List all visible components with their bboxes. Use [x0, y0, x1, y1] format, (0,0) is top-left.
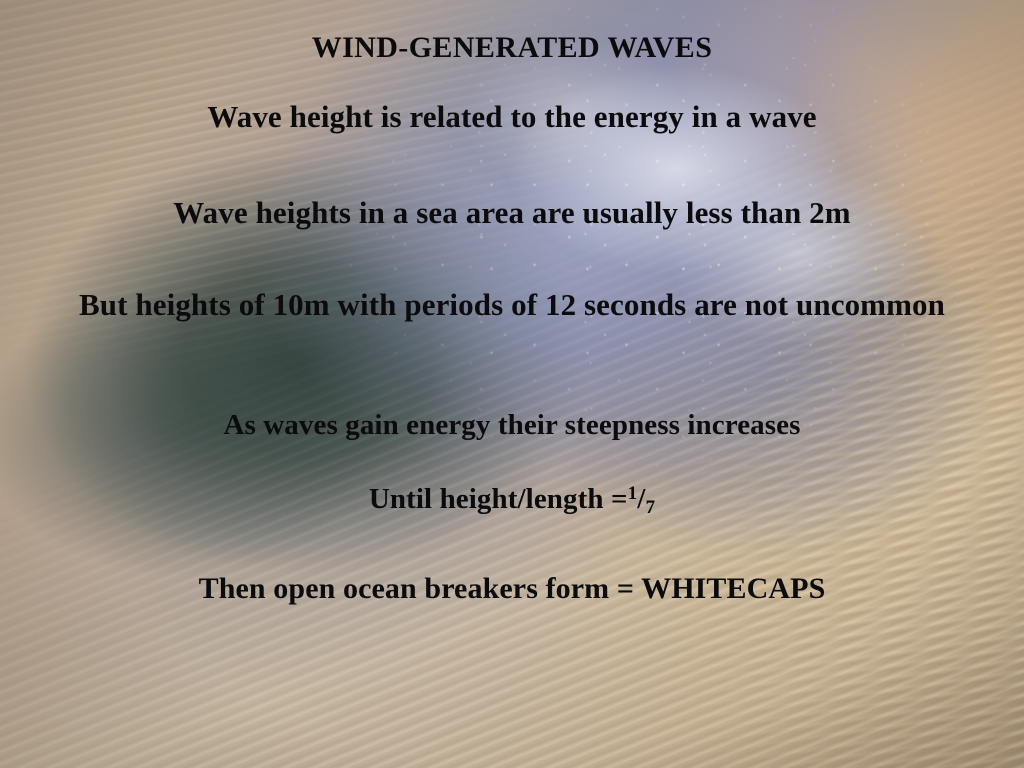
slide-bullet-6: Then open ocean breakers form = WHITECAP… [0, 572, 1024, 606]
slide-title: WIND-GENERATED WAVES [0, 31, 1024, 65]
slide-text-block: WIND-GENERATED WAVES Wave height is rela… [0, 0, 1024, 768]
slide-bullet-1: Wave height is related to the energy in … [0, 100, 1024, 135]
fraction-denominator: 7 [645, 497, 655, 518]
slide-bullet-5-text: Until height/length = [369, 483, 628, 515]
fraction-numerator: 1 [628, 483, 638, 504]
one-seventh-fraction: 1/7 [628, 483, 656, 515]
slide-bullet-3: But heights of 10m with periods of 12 se… [0, 288, 1024, 323]
slide-bullet-5: Until height/length =1/7 [0, 483, 1024, 515]
slide-bullet-2: Wave heights in a sea area are usually l… [0, 196, 1024, 231]
slide-canvas: WIND-GENERATED WAVES Wave height is rela… [0, 0, 1024, 768]
slide-bullet-4: As waves gain energy their steepness inc… [0, 409, 1024, 441]
